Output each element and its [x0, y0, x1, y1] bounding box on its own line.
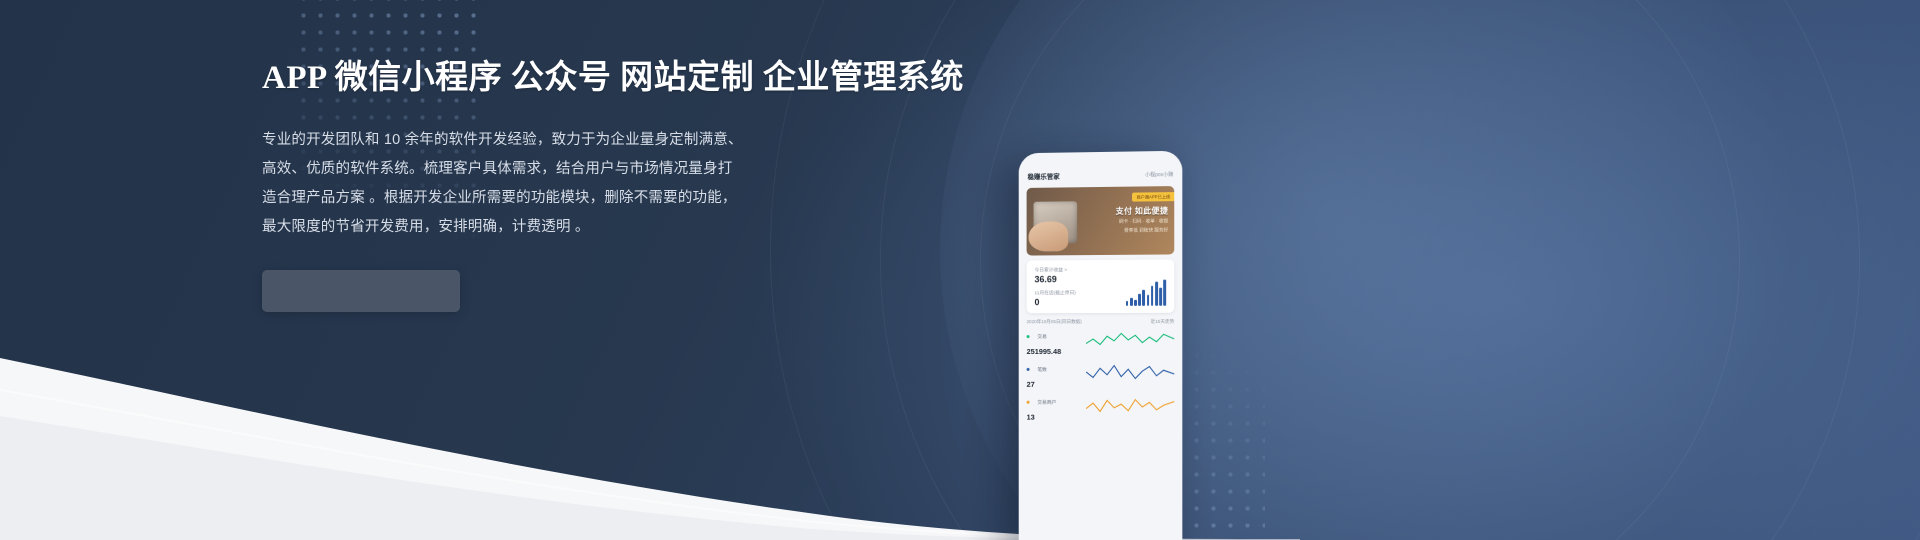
stat-value: 251995.48	[1027, 347, 1086, 356]
banner-ribbon: 商户端APP已上线	[1132, 192, 1174, 202]
sparkline-chart	[1086, 361, 1174, 383]
sparkline-chart	[1086, 328, 1174, 350]
hero-paragraph: 专业的开发团队和 10 余年的软件开发经验，致力于为企业量身定制满意、 高效、优…	[262, 126, 822, 242]
paragraph-line-1: 专业的开发团队和 10 余年的软件开发经验，致力于为企业量身定制满意、	[262, 126, 822, 155]
status-dot-icon	[1027, 335, 1030, 338]
paragraph-line-2: 高效、优质的软件系统。梳理客户具体需求，结合用户与市场情况量身打	[262, 155, 822, 184]
banner-subtext-2: 费率低 到账快 服务好	[1124, 227, 1168, 233]
stat-name: 交易商户	[1037, 399, 1056, 406]
stats-section: 2020年10月05日(同日数据) 近15天走势 交易 251995.48 笔数…	[1027, 319, 1175, 423]
stat-row: 交易商户 13	[1027, 394, 1175, 423]
stat-name: 交易	[1037, 333, 1046, 340]
status-dot-icon	[1027, 401, 1030, 404]
hand-image	[1029, 221, 1069, 251]
banner-headline: 支付 如此便捷	[1116, 205, 1169, 217]
mini-bar-chart	[1126, 280, 1166, 306]
stat-name: 笔数	[1037, 366, 1046, 373]
hero-copy: APP 微信小程序 公众号 网站定制 企业管理系统 专业的开发团队和 10 余年…	[262, 58, 822, 312]
stats-header: 2020年10月05日(同日数据) 近15天走势	[1027, 319, 1175, 325]
stats-range: 近15天走势	[1151, 319, 1175, 325]
hero-banner: APP 微信小程序 公众号 网站定制 企业管理系统 专业的开发团队和 10 余年…	[0, 0, 1920, 540]
app-subtitle: 小程pos小赚	[1145, 170, 1173, 177]
stat-value: 27	[1027, 380, 1086, 389]
today-earnings-card[interactable]: 今日累计收益 > 36.69 11月在店(截止停日) 0	[1027, 259, 1175, 313]
paragraph-line-3: 造合理产品方案 。根据开发企业所需要的功能模块，删除不需要的功能，	[262, 184, 822, 213]
stat-value: 13	[1027, 413, 1086, 422]
paragraph-line-4: 最大限度的节省开发费用，安排明确，计费透明 。	[262, 213, 822, 242]
page-title: APP 微信小程序 公众号 网站定制 企业管理系统	[262, 58, 822, 99]
contact-input[interactable]	[262, 270, 460, 312]
stats-date: 2020年10月05日(同日数据)	[1027, 319, 1082, 325]
app-header: 稳赚乐管家 小程pos小赚	[1019, 164, 1183, 186]
stat-row: 笔数 27	[1027, 361, 1175, 389]
cta-group[interactable]: click	[262, 270, 460, 312]
phone-mockup: 稳赚乐管家 小程pos小赚 商户端APP已上线 支付 如此便捷 刷卡 · 扫码 …	[1019, 151, 1183, 540]
app-title: 稳赚乐管家	[1028, 171, 1060, 181]
stat-row: 交易 251995.48	[1027, 328, 1175, 356]
sparkline-chart	[1086, 394, 1174, 416]
status-dot-icon	[1027, 368, 1030, 371]
today-earnings-label: 今日累计收益 >	[1034, 266, 1166, 274]
promo-banner[interactable]: 商户端APP已上线 支付 如此便捷 刷卡 · 扫码 · 收单 · 收银 费率低 …	[1027, 186, 1175, 256]
banner-subtext: 刷卡 · 扫码 · 收单 · 收银	[1119, 218, 1168, 225]
